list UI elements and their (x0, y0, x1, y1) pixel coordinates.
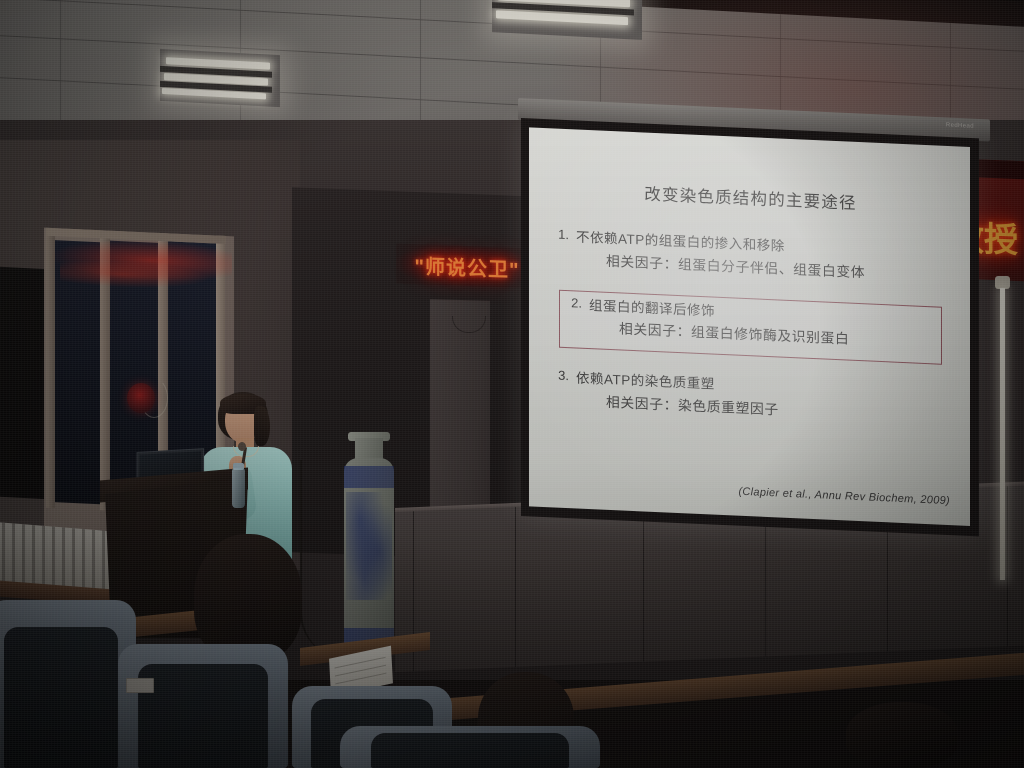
vase-band-top (344, 466, 394, 488)
emblem-arc (140, 378, 168, 418)
seat-cushion (4, 627, 118, 768)
slide-bullet-1-number: 1. (549, 226, 576, 242)
speaker-hair-side (254, 406, 270, 446)
wall-tube-light (1000, 288, 1005, 580)
led-sign-left-text: "师说公卫" (415, 250, 520, 283)
ceiling-light-fixture-left (160, 49, 280, 107)
audience-head-3 (846, 702, 958, 768)
slide-bullet-2: 2. 组蛋白的翻译后修饰 相关因子：组蛋白修饰酶及识别蛋白 (562, 294, 933, 351)
slide-bullet-2-body: 组蛋白的翻译后修饰 相关因子：组蛋白修饰酶及识别蛋白 (589, 296, 849, 348)
slide-bullet-3-body: 依赖ATP的染色质重塑 相关因子：染色质重塑因子 (576, 368, 779, 418)
water-bottle (232, 468, 245, 508)
wall-dark-board (0, 267, 48, 500)
seat-number-tag-2 (126, 678, 154, 693)
audience-head-1 (194, 534, 302, 662)
slide-content: 改变染色质结构的主要途径 1. 不依赖ATP的组蛋白的掺入和移除 相关因子：组蛋… (529, 127, 970, 526)
lecture-hall-photo: "师说公卫" 教授 RedHead 改变染色质结构的主要途径 1. 不依赖 (0, 0, 1024, 768)
vase-motif (346, 492, 392, 600)
auditorium-seat-4[interactable] (340, 726, 600, 768)
microphone-head (238, 442, 246, 451)
seat-cushion (138, 664, 267, 768)
led-sign-left: "师说公卫" (396, 244, 538, 289)
projection-screen-surface: 改变染色质结构的主要途径 1. 不依赖ATP的组蛋白的掺入和移除 相关因子：组蛋… (529, 127, 970, 526)
slide-title: 改变染色质结构的主要途径 (549, 176, 952, 218)
auditorium-seat-1[interactable] (0, 600, 136, 768)
auditorium-seat-2[interactable] (118, 644, 288, 768)
screen-brand-label: RedHead (946, 122, 974, 129)
slide-citation: (Clapier et al., Annu Rev Biochem, 2009) (738, 486, 950, 507)
slide-bullet-3-number: 3. (549, 367, 576, 383)
slide-bullet-2-number: 2. (562, 294, 589, 310)
floor-cable (300, 460, 348, 660)
projection-screen: 改变染色质结构的主要途径 1. 不依赖ATP的组蛋白的掺入和移除 相关因子：组蛋… (521, 118, 979, 536)
seat-cushion (371, 733, 569, 768)
slide-bullet-1-body: 不依赖ATP的组蛋白的掺入和移除 相关因子：组蛋白分子伴侣、组蛋白变体 (576, 227, 865, 280)
